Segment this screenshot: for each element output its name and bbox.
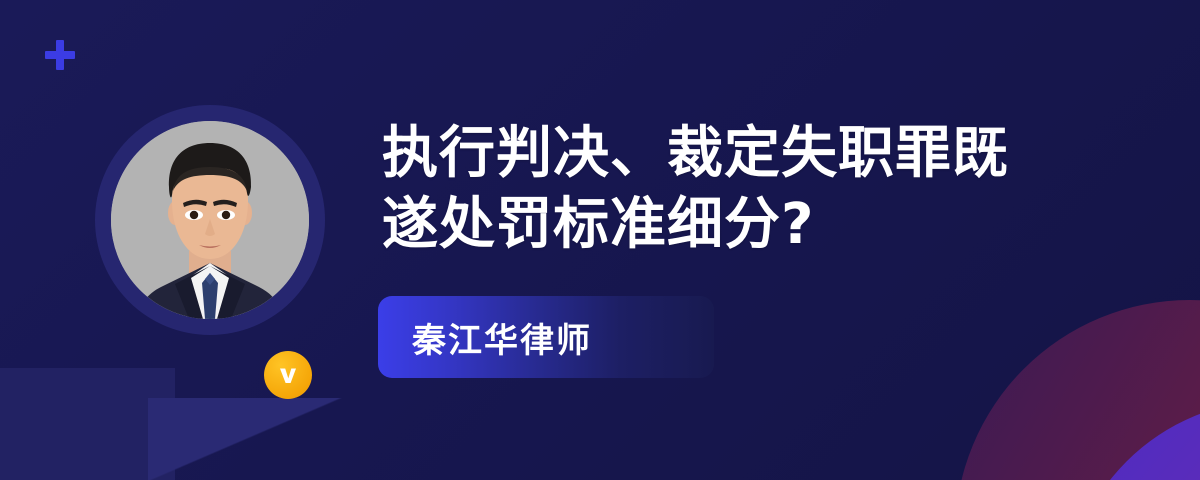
headline-block: 执行判决、裁定失职罪既 遂处罚标准细分?	[382, 118, 1082, 260]
decorative-circle-red	[955, 300, 1200, 480]
promo-banner: 执行判决、裁定失职罪既 遂处罚标准细分? 秦江华律师	[0, 0, 1200, 480]
avatar-photo	[111, 121, 309, 319]
author-name: 秦江华律师	[412, 313, 592, 362]
decorative-circle-purple	[1065, 400, 1200, 480]
plus-icon	[45, 40, 75, 70]
page-title: 执行判决、裁定失职罪既 遂处罚标准细分?	[382, 118, 1082, 260]
avatar	[58, 68, 362, 406]
verified-check-v-icon	[264, 351, 312, 399]
author-badge[interactable]: 秦江华律师	[378, 296, 714, 378]
decorative-triangle-mid	[148, 398, 343, 480]
